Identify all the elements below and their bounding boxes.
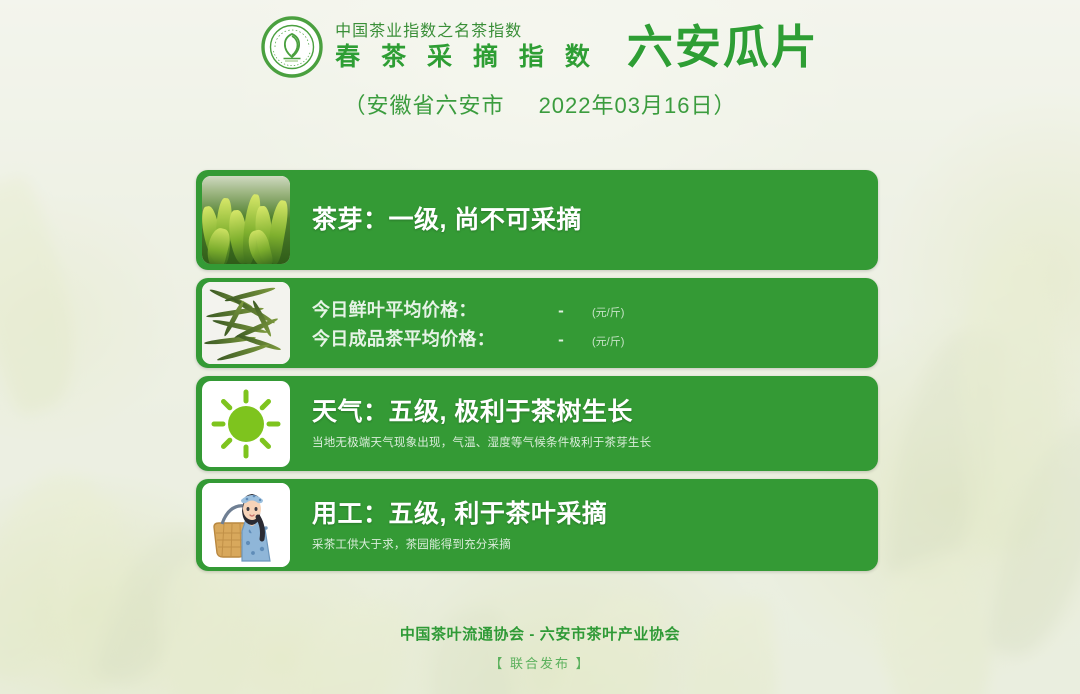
header-row: 中国茶业指数之名茶指数 春 茶 采 摘 指 数 六安瓜片 [0, 16, 1080, 78]
china-tea-index-logo [261, 16, 323, 78]
index-title-block: 中国茶业指数之名茶指数 春 茶 采 摘 指 数 [335, 22, 597, 72]
card-weather-title: 天气：五级, 极利于茶树生长 [312, 397, 878, 427]
location-date-line: （安徽省六安市2022年03月16日） [0, 88, 1080, 120]
page-footer: 中国茶叶流通协会 - 六安市茶叶产业协会 【 联合发布 】 [0, 623, 1080, 672]
card-prices-body: 今日鲜叶平均价格： - (元/斤) 今日成品茶平均价格： - (元/斤) [290, 293, 878, 354]
card-tea-bud-body: 茶芽：一级, 尚不可采摘 [290, 205, 878, 235]
paren-open: （ [344, 93, 367, 118]
sun-icon [202, 381, 290, 467]
card-labor-title: 用工：五级, 利于茶叶采摘 [312, 499, 878, 529]
index-subtitle: 中国茶业指数之名茶指数 [335, 22, 522, 42]
card-tea-bud[interactable]: 茶芽：一级, 尚不可采摘 [196, 170, 878, 270]
tea-picker-woman-icon [202, 483, 290, 567]
price-row: 今日成品茶平均价格： - (元/斤) [312, 325, 878, 351]
card-weather-subtitle: 当地无极端天气现象出现，气温、湿度等气候条件极利于茶芽生长 [312, 434, 878, 450]
price-label: 今日成品茶平均价格： [312, 325, 530, 351]
price-unit: (元/斤) [592, 304, 624, 320]
price-row: 今日鲜叶平均价格： - (元/斤) [312, 296, 878, 322]
card-labor[interactable]: 用工：五级, 利于茶叶采摘 采茶工供大于求，茶园能得到充分采摘 [196, 479, 878, 571]
card-labor-body: 用工：五级, 利于茶叶采摘 采茶工供大于求，茶园能得到充分采摘 [290, 499, 878, 552]
card-weather-body: 天气：五级, 极利于茶树生长 当地无极端天气现象出现，气温、湿度等气候条件极利于… [290, 397, 878, 450]
price-value: - [530, 301, 592, 321]
price-label: 今日鲜叶平均价格： [312, 296, 530, 322]
card-labor-subtitle: 采茶工供大于求，茶园能得到充分采摘 [312, 536, 878, 552]
page-title: 六安瓜片 [627, 24, 819, 70]
index-card-list: 茶芽：一级, 尚不可采摘 今日鲜叶平均价格： - ( [196, 170, 878, 579]
date-text: 2022年03月16日 [539, 93, 714, 118]
page-header: 中国茶业指数之名茶指数 春 茶 采 摘 指 数 六安瓜片 （安徽省六安市2022… [0, 16, 1080, 120]
card-tea-bud-title: 茶芽：一级, 尚不可采摘 [312, 205, 878, 235]
footer-organizations: 中国茶叶流通协会 - 六安市茶叶产业协会 [0, 623, 1080, 644]
dried-tea-leaves-photo [202, 282, 290, 364]
index-title: 春 茶 采 摘 指 数 [335, 42, 597, 72]
price-value: - [530, 330, 592, 350]
price-unit: (元/斤) [592, 333, 624, 349]
card-weather[interactable]: 天气：五级, 极利于茶树生长 当地无极端天气现象出现，气温、湿度等气候条件极利于… [196, 376, 878, 471]
location-text: 安徽省六安市 [367, 93, 505, 118]
footer-release-note: 【 联合发布 】 [0, 653, 1080, 672]
paren-close: ） [713, 93, 736, 118]
tea-bud-photo [202, 176, 290, 264]
card-prices[interactable]: 今日鲜叶平均价格： - (元/斤) 今日成品茶平均价格： - (元/斤) [196, 278, 878, 368]
